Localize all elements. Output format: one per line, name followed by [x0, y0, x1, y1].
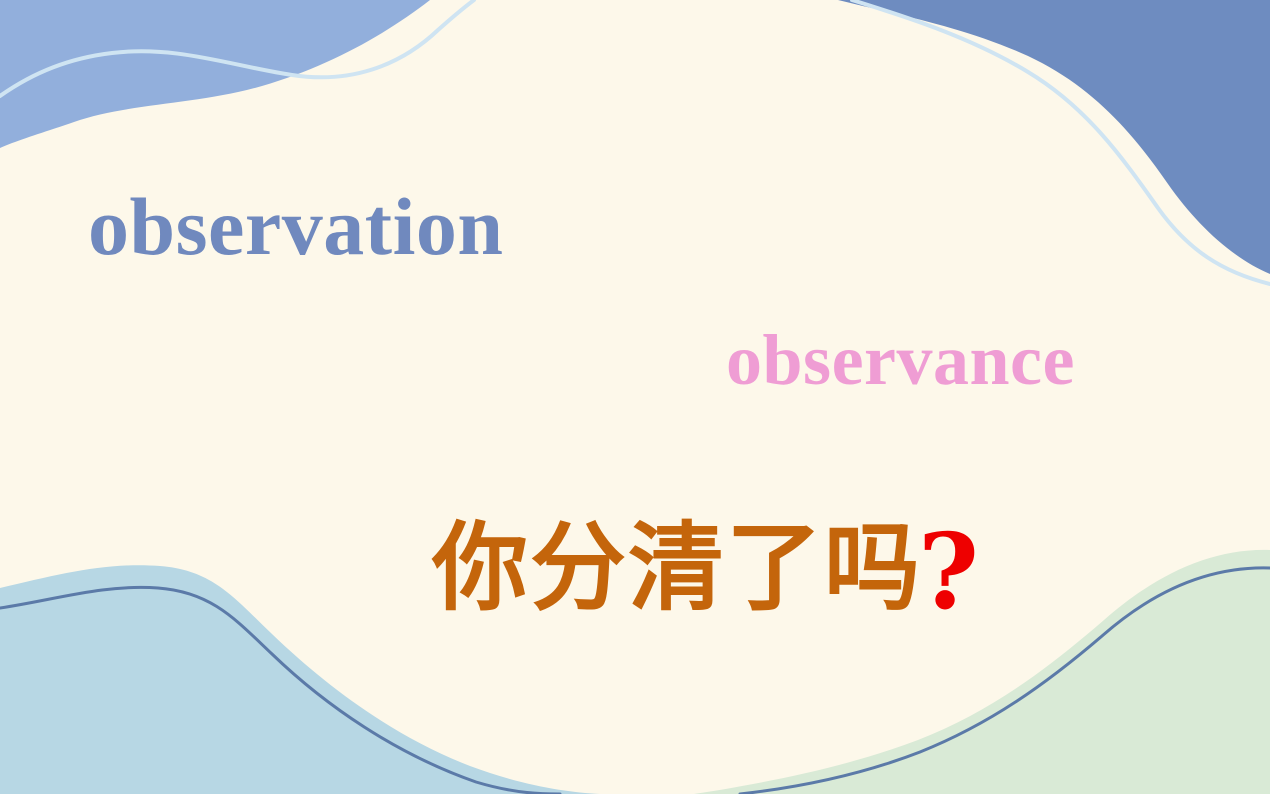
prompt-row: 你分清了吗 ? [432, 518, 979, 624]
word-observation: observation [88, 186, 504, 268]
poster-canvas: observation observance 你分清了吗 ? [0, 0, 1270, 794]
word-observance: observance [726, 324, 1075, 396]
question-mark-icon: ? [918, 520, 979, 624]
text-layer: observation observance 你分清了吗 ? [0, 0, 1270, 794]
prompt-chinese-text: 你分清了吗 [432, 518, 922, 619]
